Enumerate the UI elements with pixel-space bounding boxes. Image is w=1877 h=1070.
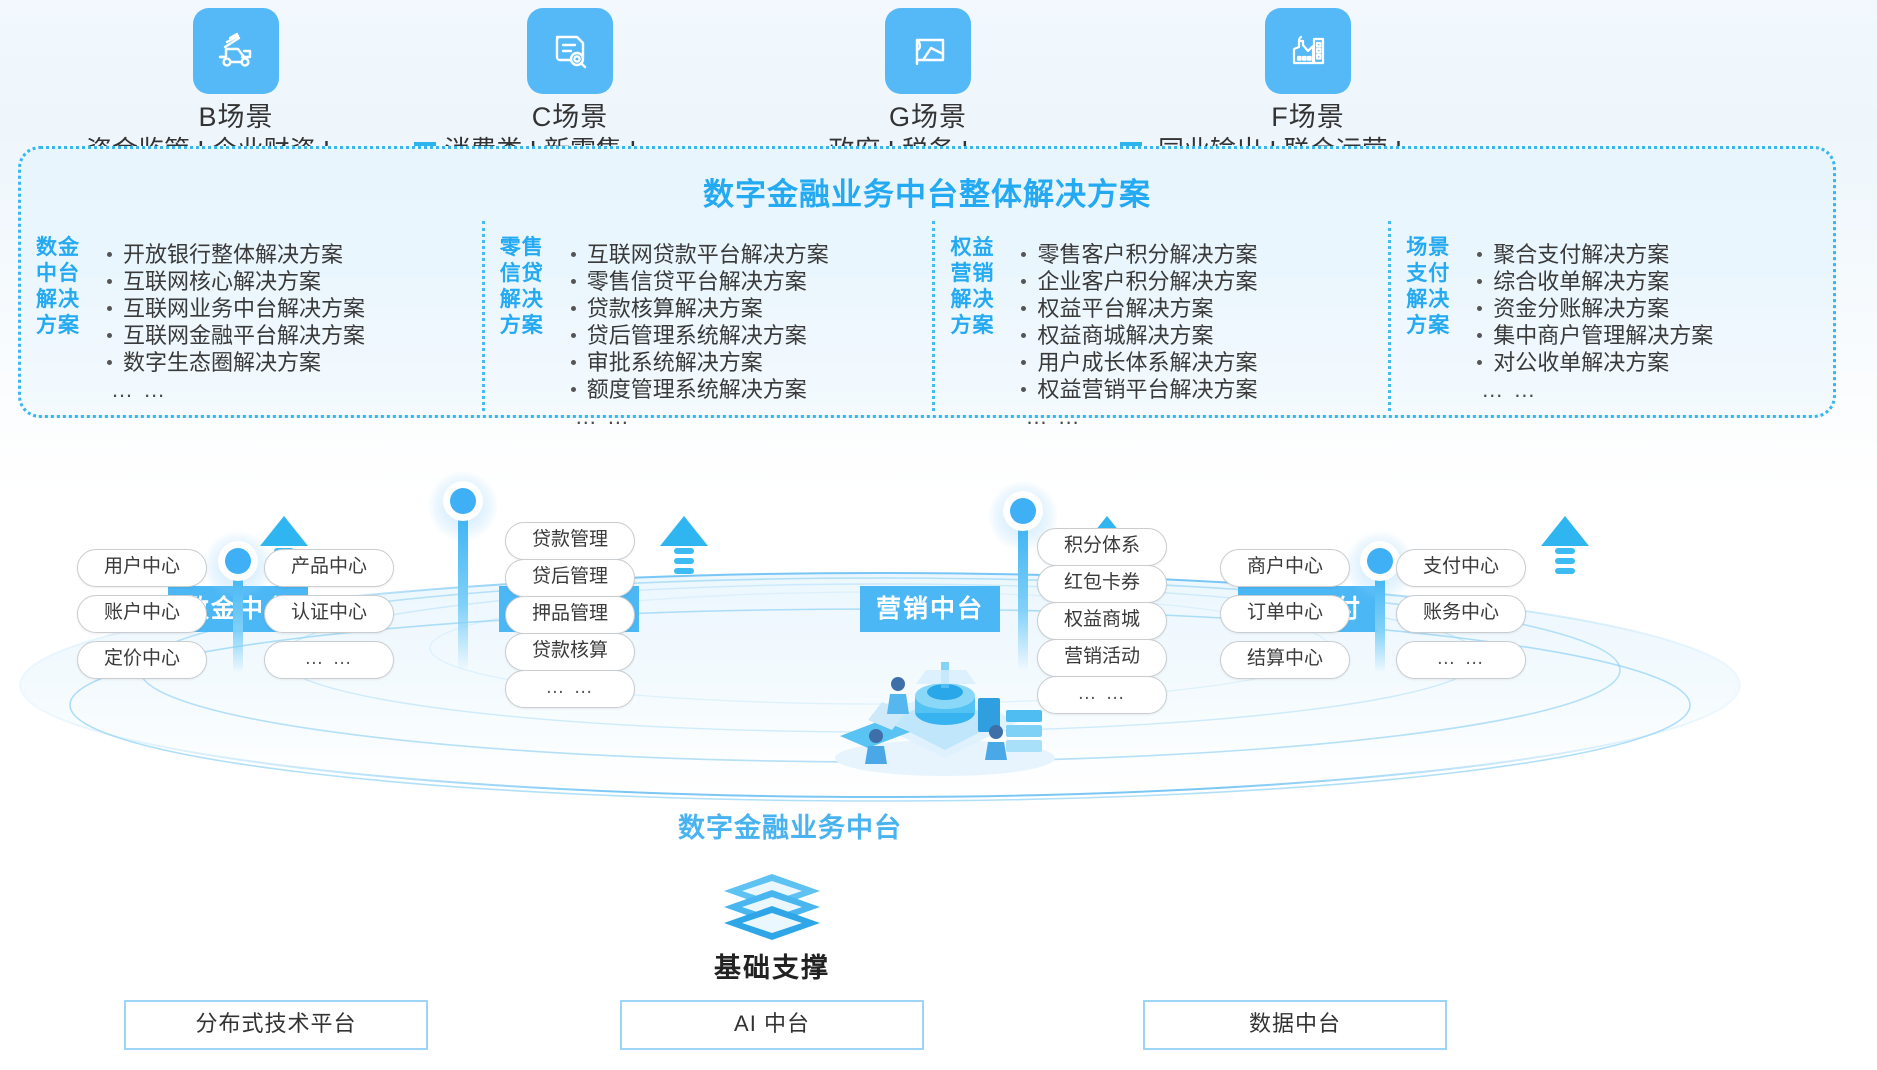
- pill-more-digital-finance[interactable]: … …: [264, 641, 394, 679]
- layers-stack-icon: [712, 870, 832, 940]
- base-support-title: 基础支撑: [672, 946, 872, 985]
- pill-accounting-center[interactable]: 账务中心: [1396, 595, 1526, 633]
- column-label: 场景 支付 解决 方案: [1391, 221, 1465, 339]
- column-label: 零售 信贷 解决 方案: [485, 221, 559, 339]
- list-item-more: … …: [1017, 403, 1388, 430]
- scenario-title: C场景: [420, 100, 720, 134]
- solution-column-scene-payment: 场景 支付 解决 方案 聚合支付解决方案 综合收单解决方案 资金分账解决方案 集…: [1388, 221, 1833, 411]
- list-item: 互联网核心解决方案: [103, 268, 482, 295]
- pill-settlement-center[interactable]: 结算中心: [1220, 641, 1350, 679]
- pill-payment-center[interactable]: 支付中心: [1396, 549, 1526, 587]
- list-item: 互联网业务中台解决方案: [103, 295, 482, 322]
- pill-account-center[interactable]: 账户中心: [77, 595, 207, 633]
- pill-more-credit[interactable]: … …: [505, 670, 635, 708]
- list-item: 资金分账解决方案: [1473, 295, 1833, 322]
- scenario-card-f[interactable]: F场景 同业输出 I 联合运营 I ……: [1158, 8, 1458, 166]
- list-item: 数字生态圈解决方案: [103, 349, 482, 376]
- pill-more-payment[interactable]: … …: [1396, 641, 1526, 679]
- list-item: 权益营销平台解决方案: [1017, 376, 1388, 403]
- list-item: 集中商户管理解决方案: [1473, 322, 1833, 349]
- column-label: 权益 营销 解决 方案: [935, 221, 1009, 339]
- pill-rights-mall[interactable]: 权益商城: [1037, 602, 1167, 640]
- column-list: 互联网贷款平台解决方案 零售信贷平台解决方案 贷款核算解决方案 贷后管理系统解决…: [559, 237, 933, 430]
- base-box-data-platform[interactable]: 数据中台: [1143, 1000, 1447, 1050]
- column-list: 聚合支付解决方案 综合收单解决方案 资金分账解决方案 集中商户管理解决方案 对公…: [1465, 237, 1833, 403]
- flag-icon: [885, 8, 971, 94]
- pill-points-system[interactable]: 积分体系: [1037, 528, 1167, 566]
- scenario-card-b[interactable]: B场景 资金监管 I 企业财资 I ……: [86, 8, 386, 166]
- list-item-more: … …: [1473, 376, 1833, 403]
- list-item: 零售客户积分解决方案: [1017, 241, 1388, 268]
- pill-post-loan-management[interactable]: 贷后管理: [505, 559, 635, 597]
- base-box-distributed-platform[interactable]: 分布式技术平台: [124, 1000, 428, 1050]
- list-item: 额度管理系统解决方案: [567, 376, 933, 403]
- pill-merchant-center[interactable]: 商户中心: [1220, 549, 1350, 587]
- list-item: 用户成长体系解决方案: [1017, 349, 1388, 376]
- list-item: 贷款核算解决方案: [567, 295, 933, 322]
- solution-column-digital-finance: 数金 中台 解决 方案 开放银行整体解决方案 互联网核心解决方案 互联网业务中台…: [21, 221, 482, 411]
- pin-payment: [1345, 531, 1415, 661]
- center-illustration: [810, 640, 1080, 785]
- factory-icon: [1265, 8, 1351, 94]
- pill-user-center[interactable]: 用户中心: [77, 549, 207, 587]
- scenario-title: F场景: [1158, 100, 1458, 134]
- list-item-more: … …: [567, 403, 933, 430]
- list-item: 审批系统解决方案: [567, 349, 933, 376]
- column-list: 零售客户积分解决方案 企业客户积分解决方案 权益平台解决方案 权益商城解决方案 …: [1009, 237, 1388, 430]
- document-search-icon: [527, 8, 613, 94]
- panel-title: 数字金融业务中台整体解决方案: [21, 169, 1833, 214]
- list-item-more: … …: [103, 376, 482, 403]
- solution-panel: 数字金融业务中台整体解决方案 数金 中台 解决 方案 开放银行整体解决方案 互联…: [18, 146, 1836, 418]
- list-item: 零售信贷平台解决方案: [567, 268, 933, 295]
- list-item: 贷后管理系统解决方案: [567, 322, 933, 349]
- scenario-card-c[interactable]: C场景 消费类 I 新零售 I ……: [420, 8, 720, 166]
- pill-coupons[interactable]: 红包卡券: [1037, 565, 1167, 603]
- list-item: 聚合支付解决方案: [1473, 241, 1833, 268]
- scenario-card-g[interactable]: G场景 政府 I 税务 I ……: [778, 8, 1078, 166]
- scenario-title: G场景: [778, 100, 1078, 134]
- list-item: 开放银行整体解决方案: [103, 241, 482, 268]
- list-item: 互联网贷款平台解决方案: [567, 241, 933, 268]
- pill-loan-management[interactable]: 贷款管理: [505, 522, 635, 560]
- list-item: 互联网金融平台解决方案: [103, 322, 482, 349]
- solution-column-rights-marketing: 权益 营销 解决 方案 零售客户积分解决方案 企业客户积分解决方案 权益平台解决…: [932, 221, 1388, 411]
- solution-columns: 数金 中台 解决 方案 开放银行整体解决方案 互联网核心解决方案 互联网业务中台…: [21, 221, 1833, 411]
- pin-credit: [428, 471, 498, 661]
- list-item: 综合收单解决方案: [1473, 268, 1833, 295]
- pill-collateral-management[interactable]: 押品管理: [505, 596, 635, 634]
- pin-digital-finance: [203, 531, 273, 661]
- list-item: 对公收单解决方案: [1473, 349, 1833, 376]
- pill-order-center[interactable]: 订单中心: [1220, 595, 1350, 633]
- scenario-title: B场景: [86, 100, 386, 134]
- center-platform-label: 数字金融业务中台: [640, 806, 940, 845]
- column-list: 开放银行整体解决方案 互联网核心解决方案 互联网业务中台解决方案 互联网金融平台…: [95, 237, 482, 403]
- pill-product-center[interactable]: 产品中心: [264, 549, 394, 587]
- truck-shipping-icon: [193, 8, 279, 94]
- pill-auth-center[interactable]: 认证中心: [264, 595, 394, 633]
- platform-tag-marketing[interactable]: 营销中台: [860, 586, 1000, 632]
- base-box-ai-platform[interactable]: AI 中台: [620, 1000, 924, 1050]
- list-item: 权益商城解决方案: [1017, 322, 1388, 349]
- list-item: 权益平台解决方案: [1017, 295, 1388, 322]
- pill-loan-accounting[interactable]: 贷款核算: [505, 633, 635, 671]
- column-label: 数金 中台 解决 方案: [21, 221, 95, 339]
- list-item: 企业客户积分解决方案: [1017, 268, 1388, 295]
- solution-column-retail-credit: 零售 信贷 解决 方案 互联网贷款平台解决方案 零售信贷平台解决方案 贷款核算解…: [482, 221, 933, 411]
- pill-pricing-center[interactable]: 定价中心: [77, 641, 207, 679]
